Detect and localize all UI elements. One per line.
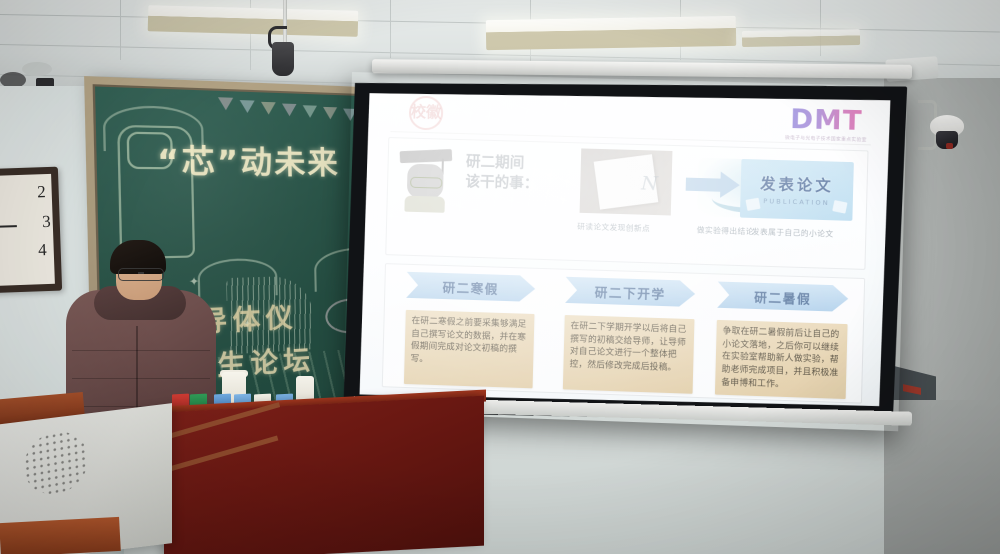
front-desk (0, 517, 121, 554)
timeline-banner-label-2: 研二下开学 (594, 281, 665, 302)
clock-number-3: 3 (42, 212, 51, 232)
right-arrow-icon (686, 178, 721, 192)
timeline-note-1: 在研二寒假之前要采集够满足自己撰写论文的数据，并在寒假期间完成对论文初稿的撰写。 (404, 310, 535, 388)
fluorescent-light-3 (742, 29, 860, 47)
publication-title-cn: 发表论文 (760, 173, 834, 196)
question-line-1: 研二期间 (466, 153, 577, 176)
projector-screen: 校徽 DMT 微电子与光电子技术国家重点实验室 研二期间 该干的事： (343, 72, 907, 431)
student-glasses-icon (410, 177, 442, 189)
page-icon-left (745, 198, 760, 211)
presenter-glasses (118, 268, 164, 281)
blackboard-title: “芯”动未来 (156, 134, 378, 183)
question-line-2: 该干的事： (465, 173, 576, 196)
dmt-logo: DMT 微电子与光电子技术国家重点实验室 (785, 106, 868, 144)
publication-box: 发表论文 PUBLICATION (740, 159, 854, 221)
slide-question-title: 研二期间 该干的事： (465, 153, 577, 195)
podium (164, 396, 484, 554)
photo-caption-1: 研读论文发现创新点 (577, 221, 650, 234)
publication-title-en: PUBLICATION (763, 197, 830, 207)
timeline-banner-1: 研二寒假 (406, 272, 535, 302)
timeline-note-2: 在研二下学期开学以后将自己撰写的初稿交给导师，让导师对自己论文进行一个整体把控，… (563, 315, 695, 394)
timeline-banner-label-3: 研二暑假 (754, 286, 812, 307)
page-icon-right (832, 200, 847, 214)
smoke-detector (22, 62, 52, 76)
photo-caption-2: 做实验得出结论 (697, 224, 754, 237)
wall-clock: 2 3 4 (0, 167, 62, 294)
graduate-student-icon (396, 147, 454, 211)
ceiling-projector (272, 42, 294, 76)
fluorescent-light-1 (148, 5, 359, 36)
clock-hand-minute (0, 225, 17, 228)
photo-papers (580, 148, 673, 215)
university-seal-icon: 校徽 (409, 96, 444, 131)
timeline-banner-3: 研二暑假 (717, 282, 848, 312)
clock-number-4: 4 (38, 240, 47, 260)
slide-canvas: 校徽 DMT 微电子与光电子技术国家重点实验室 研二期间 该干的事： (360, 86, 891, 412)
timeline-column-1: 研二寒假 在研二寒假之前要采集够满足自己撰写论文的数据，并在寒假期间完成对论文初… (392, 271, 548, 388)
timeline-banner-label-1: 研二寒假 (442, 276, 499, 297)
timeline-column-3: 研二暑假 争取在研二暑假前后让自己的小论文落地，之后你可以继续在实验室帮助新人做… (703, 281, 861, 399)
fluorescent-light-2 (486, 16, 736, 50)
classroom-scene: 2 3 4 ✦ ✦ ✦ ✦ (0, 0, 1000, 554)
clock-number-2: 2 (37, 182, 46, 202)
security-camera-indicator (946, 143, 953, 149)
dmt-logo-text: DMT (785, 106, 867, 136)
timeline-note-3: 争取在研二暑假前后让自己的小论文落地，之后你可以继续在实验室帮助新人做实验，帮助… (715, 320, 848, 399)
student-body-icon (404, 196, 445, 213)
timeline-banner-2: 研二下开学 (565, 277, 695, 307)
graduation-cap-icon (400, 149, 453, 163)
photo-letter-n: N (641, 172, 658, 195)
timeline-column-2: 研二下开学 在研二下学期开学以后将自己撰写的初稿交给导师，让导师对自己论文进行一… (551, 276, 708, 394)
